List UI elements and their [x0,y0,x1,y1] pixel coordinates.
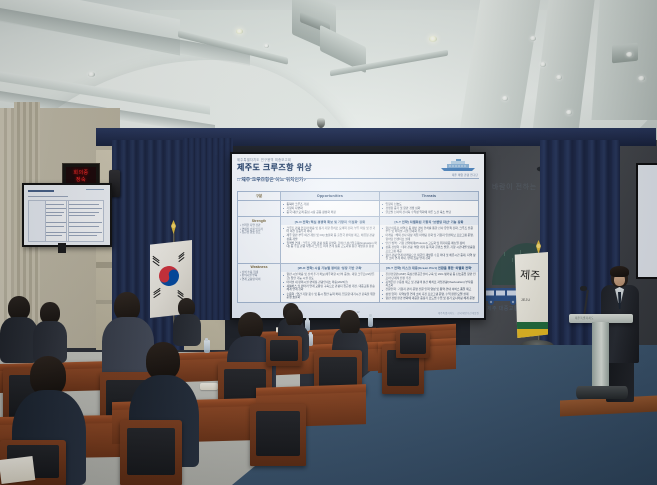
swot-table: 구분 Opportunities Threats 동북아 크루즈 거점 기항지 … [237,191,479,303]
chair [396,330,430,358]
taeguk-icon [156,263,181,288]
cell-weakness-threats: [W-T 전략] 리스크 대응(Green Port) 전환을 통한 '차별화 … [380,263,479,302]
downlight-icon [502,96,508,101]
downlight-icon [638,76,645,81]
microphone-icon [580,286,587,291]
cell-threats-list: 입항지 선호도 경쟁항 증가 및 항만 경쟁 심화 글로벌 선사의 선사측 수익… [380,201,479,217]
led-line-1: 회의중 [73,170,88,176]
projection-screen-surface: 제주특별자치도 연구용역 최종보고회 제주도 크루즈항 위상 [232,154,484,318]
band-wo-strategy: [W-O 전략] 시설 기능별 정비로 '성장 기반 구축' [281,264,379,272]
band-st-strategy: [S-T 전략] 차별화된 기항지 '브랜딩 자산' 기능 강화 [380,217,478,225]
col-header-threats: Threats [380,192,479,201]
downlight-icon [556,75,562,80]
paper-document [200,383,218,390]
conference-room-photo: 바람이 전하는 섬, 제주의 쉼표 제주 대중교통 회의중 정숙 [0,0,657,485]
water-bottle [368,316,373,327]
row-label-strength: Strength • 수려한 자연 경관 • 면세점 쇼핑 인프라 • 접근성 … [238,217,281,263]
jeju-provincial-flag: 제주 JEJU [514,252,548,338]
downlight-icon [264,44,269,48]
monitor-mount [58,243,66,253]
slide-title-rule [237,178,479,179]
downlight-icon [566,110,572,115]
cell-strength-threats: [S-T 전략] 차별화된 기항지 '브랜딩 자산' 기능 강화 항만 이용료·… [380,217,479,263]
row-label-weakness-text: Weakness [250,265,267,269]
band-wt-strategy: [W-T 전략] 리스크 대응(Green Port) 전환을 통한 '차별화 … [380,264,478,272]
security-camera-icon [317,118,325,128]
downlight-icon [530,36,536,41]
band-so-strategy: [S-O 전략] 핵심 경쟁력 확보 및 기항지 '거점화' 강화 [281,217,379,225]
mural-bus-label: 제주 대중교통 [487,305,519,312]
flag-finial-icon [168,220,179,234]
col-header-opportunities: Opportunities [281,192,380,201]
table-row-weakness: Weakness • 선석 수용 한계 • 편의시설 부족 • 연계 교통망 미… [238,263,479,302]
downlight-icon [236,29,243,34]
col-header-gubun: 구분 [238,192,281,201]
downlight-icon [88,72,95,77]
downlight-icon [626,52,633,57]
jeju-flag-sub: JEJU [521,298,530,302]
row-label-strength-sub: • 수려한 자연 경관 • 면세점 쇼핑 인프라 • 접근성 양호 항로 [240,224,278,235]
downlight-icon [429,36,437,42]
water-bottle [204,340,210,353]
row-label-weakness-sub: • 선석 수용 한계 • 편의시설 부족 • 연계 교통망 미비 [240,271,278,282]
right-monitor[interactable] [636,163,657,279]
side-monitor-screen [24,185,110,245]
row-label-strength-text: Strength [252,219,266,223]
right-monitor-screen [638,165,657,277]
podium-base [576,386,628,399]
table-row: 동북아 크루즈 거점 기항지 다변화 중국·대만 모객 중심 시장 공동 활성화… [238,201,479,217]
jeju-flag-glyph: 제주 [520,269,541,282]
slide-logo-caption: 제주 해양 관광 연구단 [452,173,478,177]
cell-weakness-opportunities: [W-O 전략] 시설 기능별 정비로 '성장 기반 구축' 항만 시설 확충 … [281,263,380,302]
presenter-hair [610,266,629,277]
table-header-row: 구분 Opportunities Threats [238,192,479,201]
table-row-strength: Strength • 수려한 자연 경관 • 면세점 쇼핑 인프라 • 접근성 … [238,217,479,263]
downlight-icon [540,62,546,67]
chair [266,336,302,366]
slide: 제주특별자치도 연구용역 최종보고회 제주도 크루즈항 위상 [232,154,484,318]
cell-opportunities-list: 동북아 크루즈 거점 기항지 다변화 중국·대만 모객 중심 시장 공동 활성화… [281,201,380,217]
row-label-gubun [238,201,281,217]
chair-front [120,420,182,485]
slide-footer: 제주특별자치도 · 한국해양수산개발원 [438,311,479,315]
podium-label: 제주특별자치도 [575,316,594,320]
led-line-2: 정숙 [76,177,86,183]
podium-column [592,322,609,390]
row-label-weakness: Weakness • 선석 수용 한계 • 편의시설 부족 • 연계 교통망 미… [238,263,281,302]
cruise-ship-logo-icon [438,158,478,172]
chair-front [250,404,306,466]
ceiling-vent-grille [612,43,638,64]
paper-document [0,456,35,484]
side-monitor[interactable] [22,183,112,247]
cell-strength-opportunities: [S-O 전략] 핵심 경쟁력 확보 및 기항지 '거점화' 강화 크루즈 관광… [281,217,380,263]
flag-finial-icon [533,240,544,254]
projection-screen[interactable]: 제주특별자치도 연구용역 최종보고회 제주도 크루즈항 위상 [230,152,486,320]
